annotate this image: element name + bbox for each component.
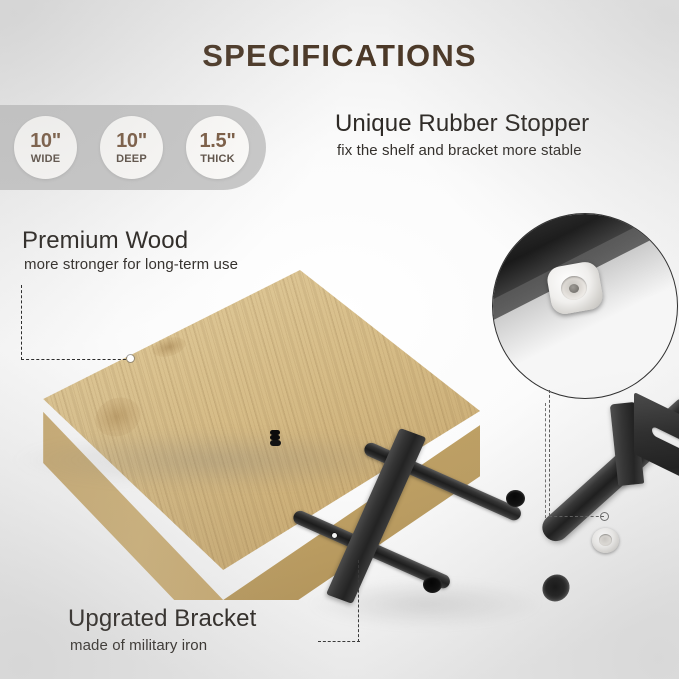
spec-badge-thickness-value: 1.5" (199, 131, 235, 151)
callout-subtitle-upgraded-bracket: made of military iron (70, 637, 207, 654)
page-title: SPECIFICATIONS (0, 38, 679, 74)
rubber-stopper-zoom-circle (492, 213, 678, 399)
leader-line-bracket-horizontal (318, 641, 360, 642)
callout-subtitle-premium-wood: more stronger for long-term use (24, 256, 238, 273)
spec-badge-width-label: WIDE (31, 154, 61, 165)
secondary-bracket (540, 395, 679, 655)
callout-subtitle-rubber-stopper: fix the shelf and bracket more stable (337, 142, 582, 159)
callout-title-upgraded-bracket: Upgrated Bracket (68, 605, 256, 633)
infographic-canvas: SPECIFICATIONS 10" WIDE 10" DEEP 1.5" TH… (0, 0, 679, 679)
spec-badge-thickness: 1.5" THICK (186, 116, 249, 179)
callout-title-rubber-stopper: Unique Rubber Stopper (335, 110, 589, 138)
spec-badge-width: 10" WIDE (14, 116, 77, 179)
callout-title-premium-wood: Premium Wood (22, 227, 188, 255)
zoom-rubber-stopper-hole-icon (569, 284, 579, 293)
mounting-hole-icon (423, 576, 442, 593)
spec-badge-depth: 10" DEEP (100, 116, 163, 179)
mounting-slot-icon (270, 440, 281, 446)
bracket-rod-screw-icon (332, 533, 337, 538)
spec-badge-width-value: 10" (30, 131, 61, 151)
mounting-hole-icon (506, 490, 525, 507)
rubber-stopper-center-icon (599, 534, 612, 546)
spec-badge-depth-value: 10" (116, 131, 147, 151)
spec-badge-depth-label: DEEP (116, 154, 147, 165)
wall-bracket (270, 430, 570, 630)
secondary-bracket-rod-end (537, 569, 575, 607)
spec-badge-thickness-label: THICK (200, 154, 235, 165)
